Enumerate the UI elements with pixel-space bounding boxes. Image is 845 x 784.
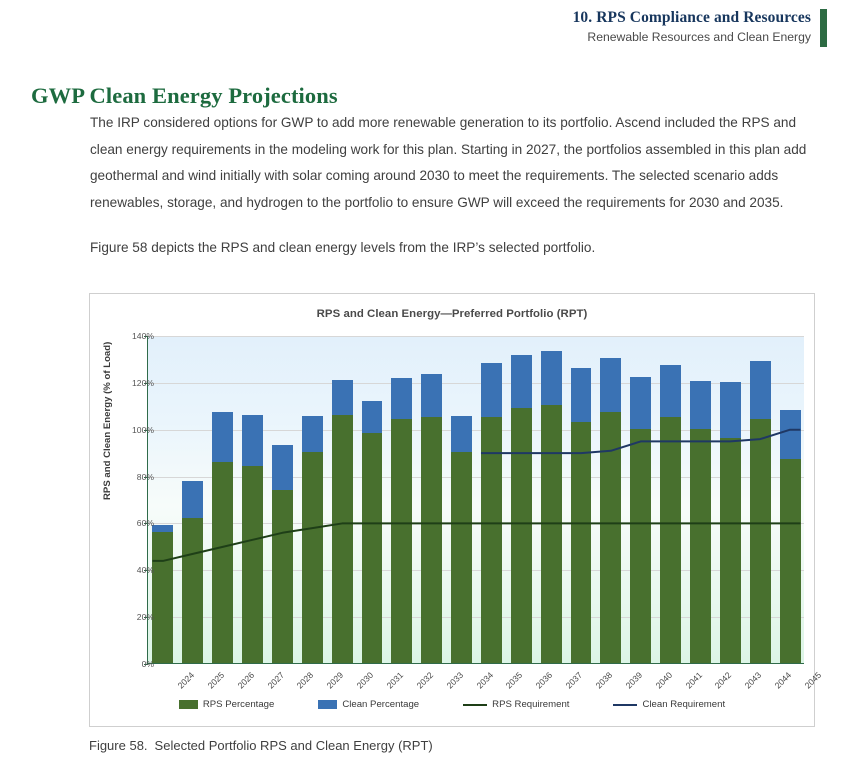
figure-caption-number: Figure 58. <box>89 738 148 753</box>
y-tick-label: 20% <box>137 612 154 622</box>
legend-line-icon <box>613 704 637 706</box>
figure-container: RPS and Clean Energy—Preferred Portfolio… <box>89 293 815 727</box>
x-tick-label: 2028 <box>295 670 316 691</box>
page-title: GWP Clean Energy Projections <box>31 83 338 109</box>
x-tick-label: 2043 <box>743 670 764 691</box>
chart-plot-wrapper: RPS and Clean Energy (% of Load) 0%20%40… <box>90 294 816 728</box>
x-tick-label: 2039 <box>623 670 644 691</box>
chart-plot-area <box>147 336 804 664</box>
legend-item[interactable]: Clean Percentage <box>318 699 419 710</box>
y-tick-label: 40% <box>137 565 154 575</box>
x-tick-label: 2040 <box>653 670 674 691</box>
legend-item[interactable]: Clean Requirement <box>613 699 725 710</box>
x-tick-label: 2029 <box>325 670 346 691</box>
x-tick-label: 2025 <box>205 670 226 691</box>
x-tick-label: 2041 <box>683 670 704 691</box>
y-tick-label: 140% <box>132 331 154 341</box>
x-tick-label: 2026 <box>235 670 256 691</box>
x-tick-label: 2024 <box>176 670 197 691</box>
y-tick-label: 60% <box>137 518 154 528</box>
x-tick-label: 2035 <box>504 670 525 691</box>
legend-item[interactable]: RPS Percentage <box>179 699 274 710</box>
page-header: 10. RPS Compliance and Resources Renewab… <box>573 8 827 47</box>
figure-caption: Figure 58.Selected Portfolio RPS and Cle… <box>89 738 433 753</box>
x-tick-label: 2044 <box>773 670 794 691</box>
x-tick-label: 2034 <box>474 670 495 691</box>
header-chapter-title: 10. RPS Compliance and Resources <box>573 8 811 27</box>
chart-requirement-lines <box>148 336 805 664</box>
figure-caption-text: Selected Portfolio RPS and Clean Energy … <box>155 738 433 753</box>
x-tick-label: 2037 <box>564 670 585 691</box>
x-tick-label: 2038 <box>594 670 615 691</box>
x-tick-label: 2032 <box>414 670 435 691</box>
legend-item[interactable]: RPS Requirement <box>463 699 569 710</box>
legend-label: RPS Percentage <box>203 699 274 710</box>
legend-line-icon <box>463 704 487 706</box>
y-tick-label: 80% <box>137 472 154 482</box>
x-tick-label: 2042 <box>713 670 734 691</box>
x-tick-label: 2027 <box>265 670 286 691</box>
header-accent-bar <box>820 9 827 47</box>
x-tick-label: 2033 <box>444 670 465 691</box>
legend-swatch-icon <box>318 700 337 709</box>
paragraph-1: The IRP considered options for GWP to ad… <box>90 110 818 216</box>
y-tick-label: 120% <box>132 378 154 388</box>
y-tick-label: 100% <box>132 425 154 435</box>
x-tick-label: 2045 <box>803 670 824 691</box>
x-tick-label: 2036 <box>534 670 555 691</box>
legend-label: RPS Requirement <box>492 699 569 710</box>
chart-legend: RPS PercentageClean PercentageRPS Requir… <box>90 699 814 710</box>
line-clean-requirement <box>481 430 801 453</box>
x-tick-label: 2031 <box>385 670 406 691</box>
paragraph-2: Figure 58 depicts the RPS and clean ener… <box>90 235 818 262</box>
line-rps-requirement <box>152 523 800 560</box>
x-tick-label: 2030 <box>355 670 376 691</box>
legend-label: Clean Requirement <box>642 699 725 710</box>
header-subtitle: Renewable Resources and Clean Energy <box>573 30 811 45</box>
legend-label: Clean Percentage <box>342 699 419 710</box>
y-axis-title: RPS and Clean Energy (% of Load) <box>102 342 113 500</box>
y-tick-label: 0% <box>142 659 154 669</box>
body-text: The IRP considered options for GWP to ad… <box>90 110 818 281</box>
legend-swatch-icon <box>179 700 198 709</box>
